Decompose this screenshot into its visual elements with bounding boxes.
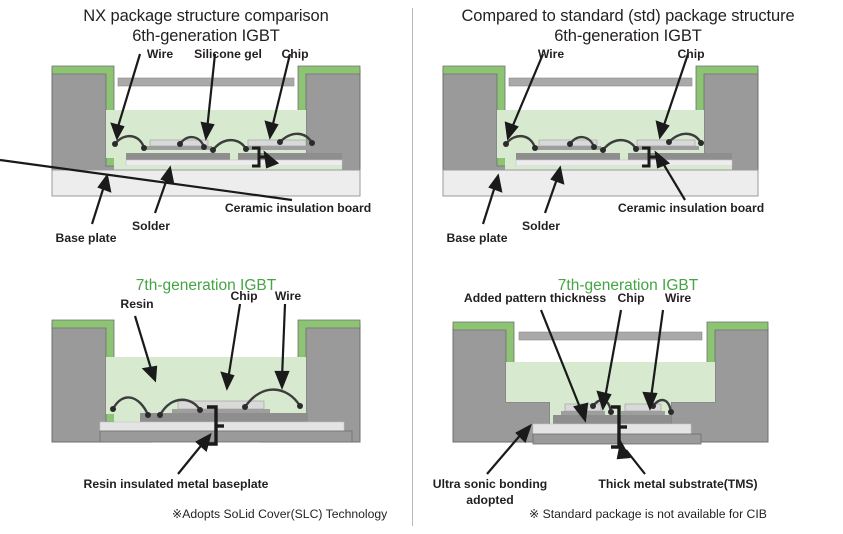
label-added-pattern-thickness: Added pattern thickness [464,291,606,305]
ceramic-insulation-board [516,160,732,166]
panel-top-right: Compared to standard (std) package struc… [413,0,843,262]
label-wire: Wire [665,291,692,305]
label-wire: Wire [538,47,565,61]
label-base-plate: Base plate [56,231,117,245]
label-ultra-sonic-bonding-2: adopted [466,493,513,507]
label-wire: Wire [147,47,174,61]
label-resin-insulated-metal-baseplate: Resin insulated metal baseplate [84,477,269,491]
label-wire: Wire [275,289,302,303]
panel-bottom-right: 7th-generation IGBT [413,268,843,534]
top-terminal-bar [118,78,294,86]
label-ceramic-insulation-board: Ceramic insulation board [618,201,764,215]
solder-layer [126,166,342,170]
solder-layer [516,166,732,170]
label-chip: Chip [617,291,644,305]
added-pattern-thickness [553,415,671,424]
chip-layer [172,401,270,413]
panel-bottom-left: 7th-generation IGBT [0,268,412,534]
top-terminal-bar [519,332,702,340]
metal-baseplate [100,431,352,442]
panel-top-left-title: NX package structure comparison 6th-gene… [0,6,412,46]
label-resin: Resin [120,297,153,311]
label-chip: Chip [677,47,704,61]
panel-top-right-title: Compared to standard (std) package struc… [413,6,843,46]
ceramic-insulation-board [126,160,342,166]
top-terminal-bar [509,78,692,86]
label-solder: Solder [522,219,560,233]
diagram-bottom-left: Resin Chip Wire Resin insulated metal ba… [0,302,412,502]
label-ultra-sonic-bonding: Ultra sonic bonding [433,477,547,491]
label-chip: Chip [230,289,257,303]
label-thick-metal-substrate: Thick metal substrate(TMS) [598,477,757,491]
footnote-slc: ※Adopts SoLid Cover(SLC) Technology [172,507,387,521]
label-chip: Chip [281,47,308,61]
title-line-1: Compared to standard (std) package struc… [461,7,794,25]
label-silicone-gel: Silicone gel [194,47,262,61]
title-line-2: 6th-generation IGBT [0,26,412,46]
thick-metal-substrate [533,434,701,444]
title-line-1: NX package structure comparison [83,7,328,25]
diagram-top-right: Wire Chip Ceramic insulation board Base … [413,48,843,263]
panel-top-left: NX package structure comparison 6th-gene… [0,0,412,262]
panel-bottom-left-title: 7th-generation IGBT [0,276,412,295]
label-base-plate: Base plate [447,231,508,245]
insulation-layer [533,424,691,434]
base-plate [443,170,758,196]
label-ceramic-insulation-board: Ceramic insulation board [225,201,371,215]
label-solder: Solder [132,219,170,233]
title-line-2: 6th-generation IGBT [413,26,843,46]
diagram-top-left: Wire Silicone gel Chip Ceramic insulatio… [0,48,412,263]
diagram-bottom-right: Added pattern thickness Chip Wire Ultra … [413,302,843,502]
footnote-cib: ※ Standard package is not available for … [529,507,767,521]
copper-pattern [140,413,308,422]
